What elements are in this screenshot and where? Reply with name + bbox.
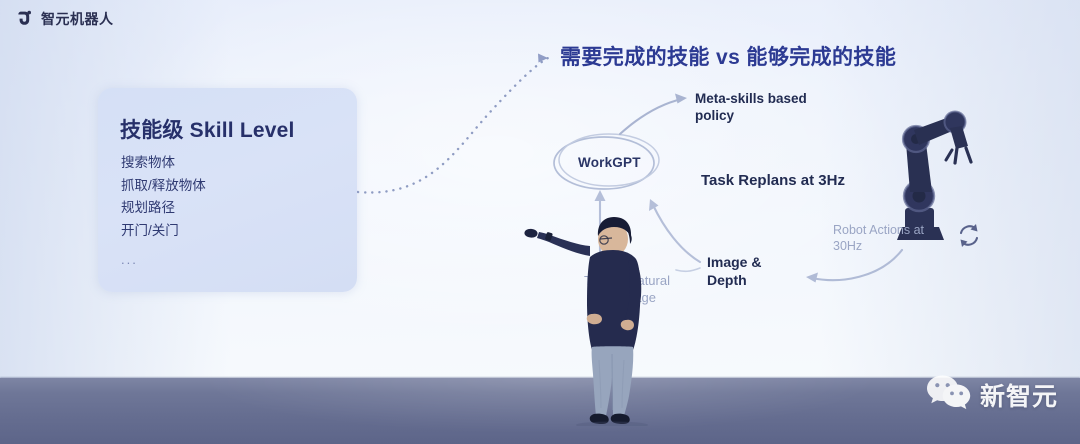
robot-actions-label: Robot Actions at 30Hz <box>833 222 924 254</box>
skill-list: 搜索物体 抓取/释放物体 规划路径 开门/关门 ... <box>121 152 206 272</box>
workgpt-node-label: WorkGPT <box>578 155 641 170</box>
wechat-icon <box>926 373 972 416</box>
image-depth-label: Image & Depth <box>707 253 761 289</box>
list-item-ellipsis: ... <box>121 242 206 272</box>
skill-level-card: 技能级 Skill Level 搜索物体 抓取/释放物体 规划路径 开门/关门 … <box>98 88 357 292</box>
meta-skills-policy-label: Meta-skills based policy <box>695 90 807 124</box>
watermark-text: 新智元 <box>980 377 1058 413</box>
task-replans-label: Task Replans at 3Hz <box>701 172 845 189</box>
watermark: 新智元 <box>926 373 1058 416</box>
list-item: 开门/关门 <box>121 220 206 243</box>
zhiyuan-logo-icon <box>14 9 34 29</box>
brand-name: 智元机器人 <box>41 9 114 29</box>
brand-logo: 智元机器人 <box>14 9 114 29</box>
list-item: 规划路径 <box>121 197 206 220</box>
presenter-person <box>520 214 690 426</box>
list-item: 抓取/释放物体 <box>121 175 206 198</box>
list-item: 搜索物体 <box>121 152 206 175</box>
card-title: 技能级 Skill Level <box>120 114 295 144</box>
presentation-screenshot: 智元机器人 技能级 Skill Level 搜索物体 抓取/释放物体 规划路径 … <box>0 0 1080 444</box>
slide-headline: 需要完成的技能 vs 能够完成的技能 <box>560 41 896 71</box>
